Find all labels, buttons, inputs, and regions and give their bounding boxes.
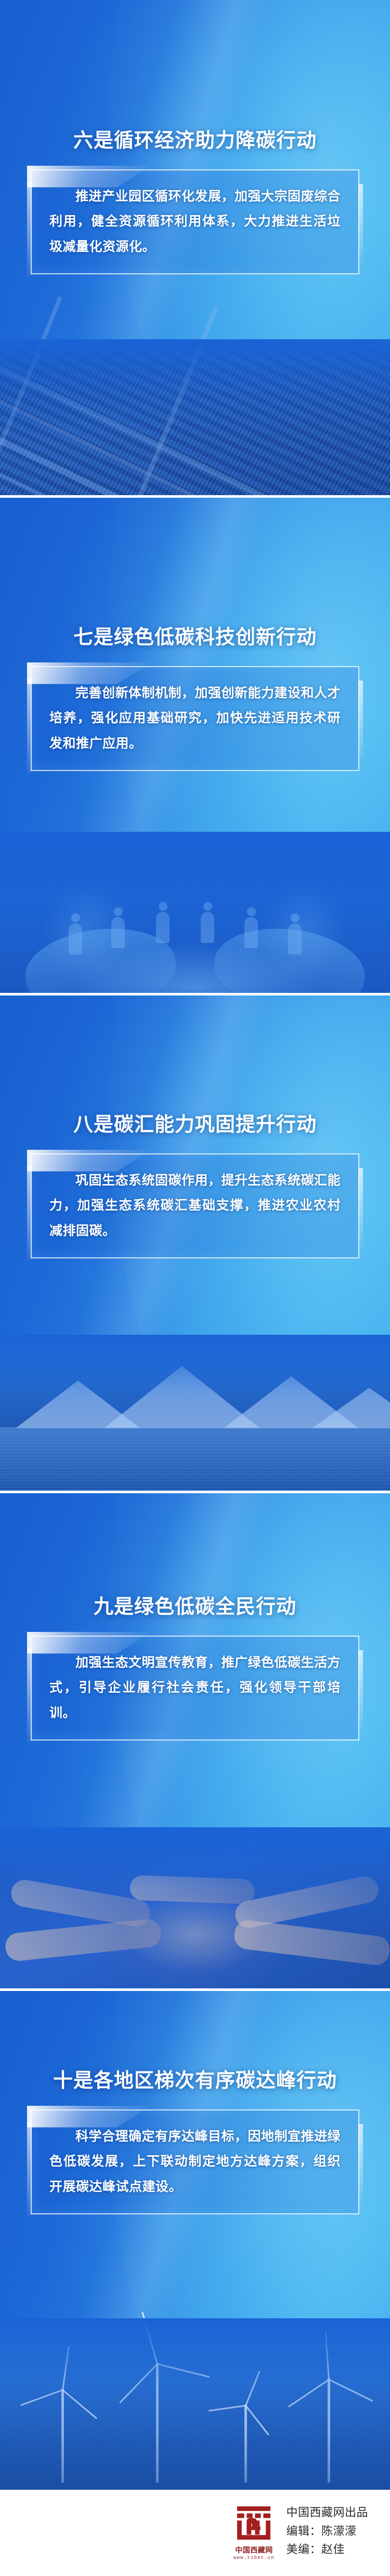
infographic-page: 六是循环经济助力降碳行动 推进产业园区循环化发展，加强大宗固废综合利用，健全资源… [0, 0, 390, 2576]
page-title: 九是绿色低碳全民行动 [0, 1493, 390, 1620]
body-text: 科学合理确定有序达峰目标，因地制宜推进绿色低碳发展，上下联动制定地方达峰方案，组… [49, 2124, 341, 2200]
body-text: 加强生态文明宣传教育，推广绿色低碳生活方式，引导企业履行社会责任，强化领导干部培… [49, 1650, 341, 1726]
page-title: 十是各地区梯次有序碳达峰行动 [0, 1991, 390, 2094]
logo-url: www.tibet.cn [229, 2555, 279, 2560]
body-text: 完善创新体制机制，加强创新能力建设和人才培养，强化应用基础研究，加快先进适用技术… [49, 681, 341, 756]
body-text-frame: 加强生态文明宣传教育，推广绿色低碳生活方式，引导企业履行社会责任，强化领导干部培… [31, 1636, 359, 1741]
body-text-frame: 巩固生态系统固碳作用，提升生态系统碳汇能力，加强生态系统碳汇基础支撑，推进农业农… [31, 1153, 359, 1258]
body-text: 巩固生态系统固碳作用，提升生态系统碳汇能力，加强生态系统碳汇基础支撑，推进农业农… [49, 1168, 341, 1244]
body-text-frame: 科学合理确定有序达峰目标，因地制宜推进绿色低碳发展，上下联动制定地方达峰方案，组… [31, 2109, 359, 2214]
footer: 中国西藏网 www.tibet.cn 中国西藏网出品 编辑：陈濛濛 美编：赵佳 [0, 2490, 390, 2576]
tibet-net-seal-icon [233, 2502, 275, 2544]
designer-credit: 美编：赵佳 [286, 2540, 368, 2559]
panel-regional-peaking-action: 十是各地区梯次有序碳达峰行动 科学合理确定有序达峰目标，因地制宜推进绿色低碳发展… [0, 1991, 390, 2490]
logo-name: 中国西藏网 [229, 2545, 279, 2555]
publisher-logo: 中国西藏网 www.tibet.cn [229, 2502, 279, 2560]
panel-carbon-sink-capacity: 八是碳汇能力巩固提升行动 巩固生态系统固碳作用，提升生态系统碳汇能力，加强生态系… [0, 995, 390, 1491]
body-text-frame: 推进产业园区循环化发展，加强大宗固废综合利用，健全资源循环利用体系，大力推进生活… [31, 169, 359, 274]
editor-credit: 编辑：陈濛濛 [286, 2522, 368, 2541]
panel-circular-economy: 六是循环经济助力降碳行动 推进产业园区循环化发展，加强大宗固废综合利用，健全资源… [0, 0, 390, 495]
body-text-frame: 完善创新体制机制，加强创新能力建设和人才培养，强化应用基础研究，加快先进适用技术… [31, 666, 359, 771]
body-text: 推进产业园区循环化发展，加强大宗固废综合利用，健全资源循环利用体系，大力推进生活… [49, 184, 341, 260]
panel-green-tech-innovation: 七是绿色低碳科技创新行动 完善创新体制机制，加强创新能力建设和人才培养，强化应用… [0, 498, 390, 993]
credits-block: 中国西藏网出品 编辑：陈濛濛 美编：赵佳 [286, 2502, 368, 2559]
page-title: 六是循环经济助力降碳行动 [0, 0, 390, 154]
produced-by: 中国西藏网出品 [286, 2503, 368, 2522]
panel-public-low-carbon-action: 九是绿色低碳全民行动 加强生态文明宣传教育，推广绿色低碳生活方式，引导企业履行社… [0, 1493, 390, 1988]
page-title: 八是碳汇能力巩固提升行动 [0, 995, 390, 1138]
page-title: 七是绿色低碳科技创新行动 [0, 498, 390, 650]
